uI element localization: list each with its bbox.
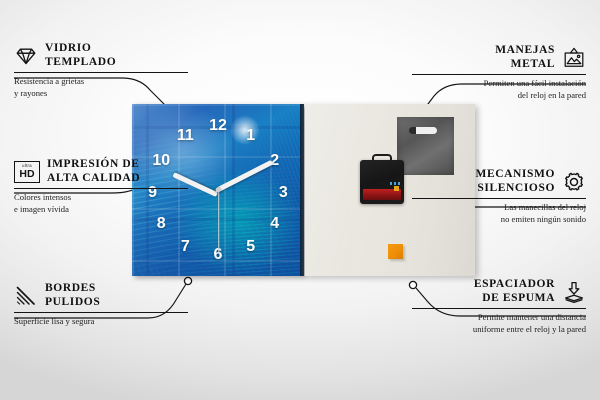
battery: [363, 189, 401, 200]
clock-numeral-7: 7: [181, 239, 190, 255]
feature-rule: [14, 72, 188, 73]
feature-header: ultraHD IMPRESIÓN DE ALTA CALIDAD: [14, 158, 188, 185]
feature-subtitle: Las manecillas del reloj no emiten ningú…: [412, 202, 586, 225]
clock-numeral-1: 1: [246, 128, 255, 144]
feature-header: MANEJAS METAL: [412, 44, 586, 71]
clock-mechanism-box: [360, 160, 404, 204]
clock-numeral-8: 8: [157, 216, 166, 232]
clock-numeral-4: 4: [270, 216, 279, 232]
feature-subtitle: Superficie lisa y segura: [14, 316, 188, 327]
feature-header: BORDES PULIDOS: [14, 282, 188, 309]
feature-rule: [412, 198, 586, 199]
feature-header: ESPACIADOR DE ESPUMA: [412, 278, 586, 305]
feature-title: MECANISMO SILENCIOSO: [475, 168, 555, 195]
polished-edges-icon: [14, 284, 38, 308]
mechanism-label-dots: [390, 182, 400, 185]
metal-hanger-plate: [397, 117, 454, 175]
feature-title: ESPACIADOR DE ESPUMA: [474, 278, 555, 305]
gear-icon: [562, 170, 586, 194]
feature-impresion-alta-calidad: ultraHD IMPRESIÓN DE ALTA CALIDAD Colore…: [14, 158, 188, 215]
clock-numeral-5: 5: [246, 239, 255, 255]
wall-hanger-icon: [562, 46, 586, 70]
feature-vidrio-templado: VIDRIO TEMPLADO Resistencia a grietas y …: [14, 42, 188, 99]
feature-rule: [412, 74, 586, 75]
hanger-keyhole-slot: [409, 127, 437, 134]
foam-spacer: [388, 244, 403, 259]
feature-header: VIDRIO TEMPLADO: [14, 42, 188, 69]
clock-right-edge: [300, 104, 304, 276]
foam-spacer-icon: [562, 280, 586, 304]
clock-second-hand: [218, 191, 219, 254]
feature-rule: [14, 188, 188, 189]
feature-rule: [412, 308, 586, 309]
feature-rule: [14, 312, 188, 313]
feature-subtitle: Colores intensos e imagen vívida: [14, 192, 188, 215]
feature-title: VIDRIO TEMPLADO: [45, 42, 116, 69]
feature-title: MANEJAS METAL: [495, 44, 555, 71]
feature-espaciador-espuma: ESPACIADOR DE ESPUMA Permite mantener un…: [412, 278, 586, 335]
feature-title: IMPRESIÓN DE ALTA CALIDAD: [47, 158, 140, 185]
diamond-icon: [14, 44, 38, 68]
feature-subtitle: Permiten una fácil instalación del reloj…: [412, 78, 586, 101]
feature-subtitle: Resistencia a grietas y rayones: [14, 76, 188, 99]
infographic-canvas: 12 1 2 3 4 5 6 7 8 9 10 11: [0, 0, 600, 400]
feature-bordes-pulidos: BORDES PULIDOS Superficie lisa y segura: [14, 282, 188, 328]
feature-manejas-metal: MANEJAS METAL Permiten una fácil instala…: [412, 44, 586, 101]
feature-title: BORDES PULIDOS: [45, 282, 100, 309]
clock-center-hub: [216, 188, 221, 193]
feature-subtitle: Permite mantener una distancia uniforme …: [412, 312, 586, 335]
clock-numeral-12: 12: [209, 118, 227, 134]
ultra-hd-icon: ultraHD: [14, 161, 40, 183]
feature-mecanismo-silencioso: MECANISMO SILENCIOSO Las manecillas del …: [412, 168, 586, 225]
mechanism-handle: [372, 154, 392, 162]
clock-numeral-3: 3: [279, 185, 288, 201]
feature-header: MECANISMO SILENCIOSO: [412, 168, 586, 195]
clock-numeral-11: 11: [177, 128, 194, 144]
